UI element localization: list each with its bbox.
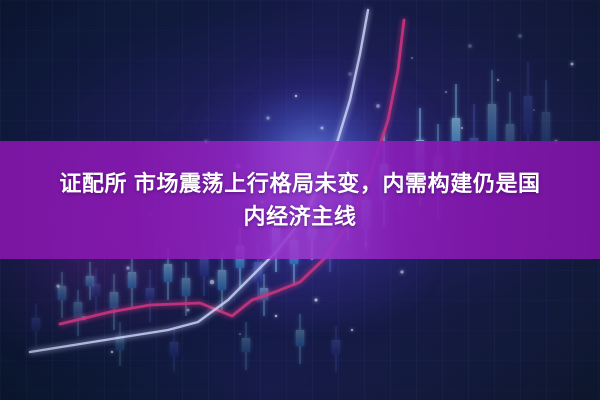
headline-line-2: 内经济主线	[243, 200, 356, 233]
headline: 证配所 市场震荡上行格局未变，内需构建仍是国 内经济主线	[0, 141, 600, 259]
headline-line-1: 证配所 市场震荡上行格局未变，内需构建仍是国	[59, 167, 540, 200]
news-banner: 证配所 市场震荡上行格局未变，内需构建仍是国 内经济主线	[0, 0, 600, 400]
